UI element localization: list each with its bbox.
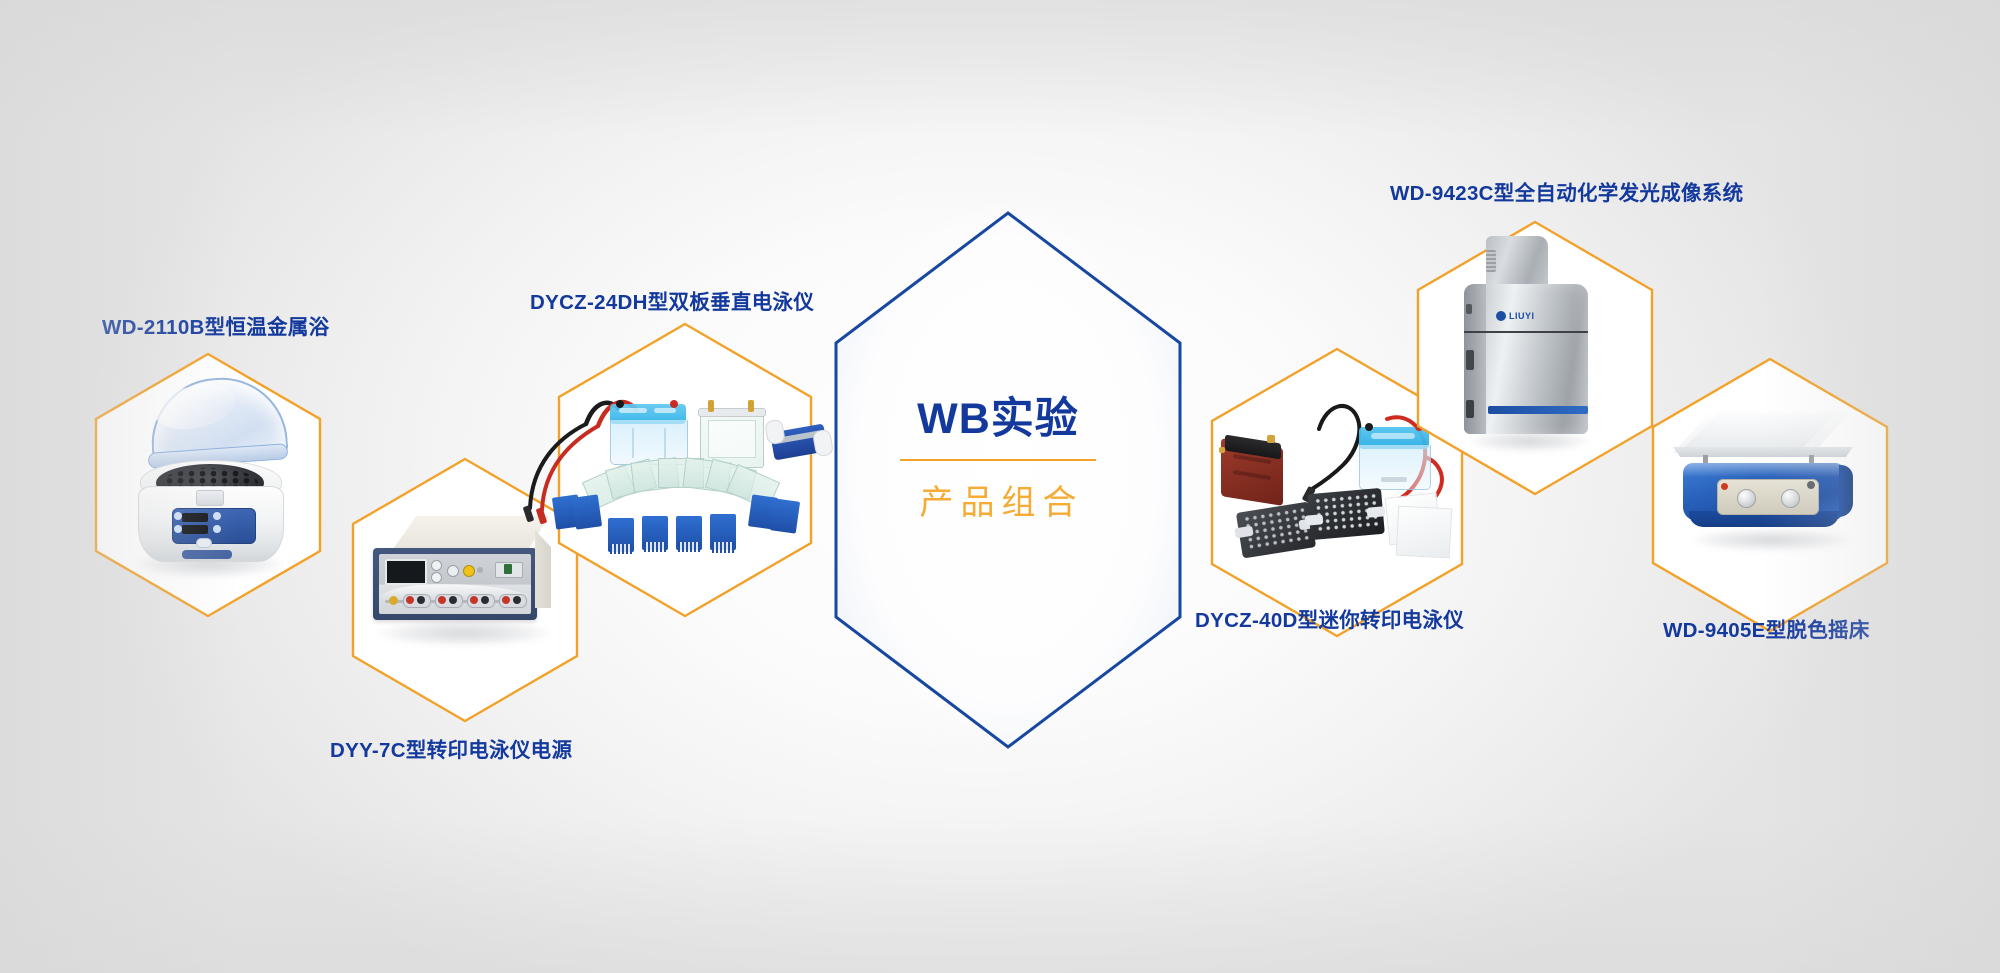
center-text-block: WB实验 产品组合 — [808, 395, 1188, 524]
center-hexagon: WB实验 产品组合 — [868, 245, 1128, 695]
product-image-vertical-electrophoresis — [522, 368, 822, 578]
node-label-dycz-24dh: DYCZ-24DH型双板垂直电泳仪 — [530, 285, 814, 315]
node-label-wd-9405e: WD-9405E型脱色摇床 — [1663, 613, 1870, 643]
product-image-metal-bath — [110, 368, 306, 600]
product-image-decolor-shaker — [1659, 403, 1889, 563]
center-divider — [900, 459, 1096, 461]
node-label-wd-9423c: WD-9423C型全自动化学发光成像系统 — [1390, 176, 1743, 206]
node-wd-2110b[interactable]: WD-2110B型恒温金属浴 — [88, 350, 328, 620]
node-label-wd-2110b: WD-2110B型恒温金属浴 — [102, 310, 329, 340]
brand-mark: LIUYI — [1509, 311, 1535, 321]
node-label-dyy-7c: DYY-7C型转印电泳仪电源 — [330, 733, 572, 763]
node-dycz-24dh[interactable]: DYCZ-24DH型双板垂直电泳仪 — [550, 320, 820, 620]
product-image-chemi-imager: LIUYI — [1450, 232, 1610, 462]
center-title: WB实验 — [808, 395, 1188, 444]
center-subtitle: 产品组合 — [808, 475, 1188, 524]
node-wd-9405e[interactable]: WD-9405E型脱色摇床 — [1645, 355, 1895, 635]
node-wd-9423c[interactable]: LIUYI WD-9423C型全自动化学发光成像系统 — [1410, 218, 1660, 498]
poster-canvas: WB实验 产品组合 — [0, 0, 2000, 973]
node-label-dycz-40d: DYCZ-40D型迷你转印电泳仪 — [1195, 603, 1464, 633]
